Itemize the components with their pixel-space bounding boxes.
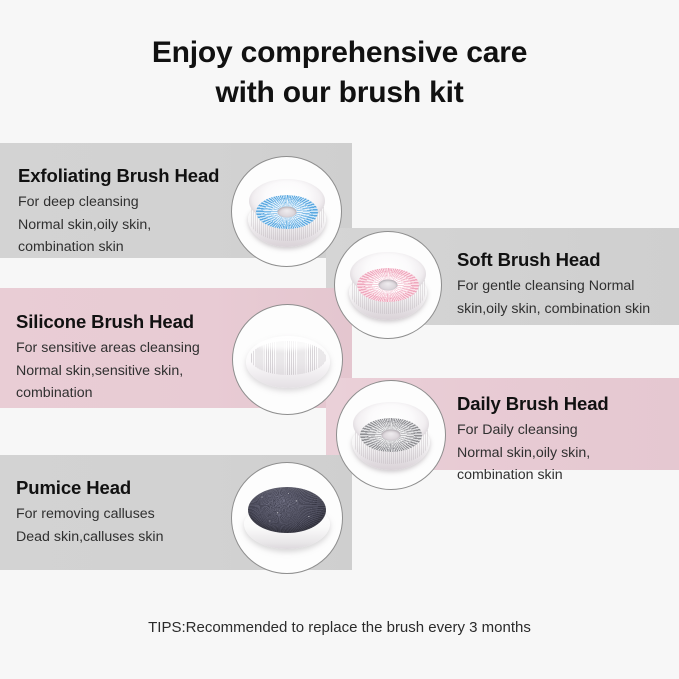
product-title-soft: Soft Brush Head [457, 248, 675, 271]
product-text-exfoliating: Exfoliating Brush Head For deep cleansin… [18, 164, 233, 258]
headline-line-1: Enjoy comprehensive care [152, 36, 527, 69]
product-desc-daily: For Daily cleansing Normal skin,oily ski… [457, 419, 667, 486]
desc-line: Normal skin,sensitive skin, [16, 360, 236, 382]
desc-line: For removing calluses [16, 503, 231, 525]
product-desc-exfoliating: For deep cleansing Normal skin,oily skin… [18, 191, 233, 258]
headline-line-2: with our brush kit [0, 73, 679, 113]
product-title-pumice: Pumice Head [16, 476, 231, 499]
product-title-exfoliating: Exfoliating Brush Head [18, 164, 233, 187]
product-text-daily: Daily Brush Head For Daily cleansing Nor… [457, 392, 667, 486]
page-title: Enjoy comprehensive care with our brush … [0, 33, 679, 113]
desc-line: For Daily cleansing [457, 419, 667, 441]
brush-illustration [352, 400, 430, 470]
desc-line: Normal skin,oily skin, [18, 214, 233, 236]
desc-line: combination skin [18, 236, 233, 258]
exfoliating-brush-head-icon [231, 156, 342, 267]
daily-brush-head-icon [336, 380, 446, 490]
desc-line: skin,oily skin, combination skin [457, 298, 675, 320]
product-title-daily: Daily Brush Head [457, 392, 667, 415]
desc-line: For deep cleansing [18, 191, 233, 213]
brush-illustration [248, 177, 326, 247]
pumice-illustration [244, 487, 330, 549]
infographic-canvas: Enjoy comprehensive care with our brush … [0, 0, 679, 679]
desc-line: For sensitive areas cleansing [16, 337, 236, 359]
desc-line: Dead skin,calluses skin [16, 526, 231, 548]
desc-line: combination skin [457, 464, 667, 486]
product-title-silicone: Silicone Brush Head [16, 310, 236, 333]
product-desc-soft: For gentle cleansing Normal skin,oily sk… [457, 275, 675, 320]
silicone-illustration [246, 336, 330, 388]
desc-line: combination [16, 382, 236, 404]
footer-tip: TIPS:Recommended to replace the brush ev… [0, 619, 679, 636]
silicone-brush-head-icon [232, 304, 343, 415]
product-text-silicone: Silicone Brush Head For sensitive areas … [16, 310, 236, 404]
desc-line: Normal skin,oily skin, [457, 442, 667, 464]
product-desc-silicone: For sensitive areas cleansing Normal ski… [16, 337, 236, 404]
product-text-pumice: Pumice Head For removing calluses Dead s… [16, 476, 231, 548]
product-text-soft: Soft Brush Head For gentle cleansing Nor… [457, 248, 675, 320]
pumice-head-icon [231, 462, 343, 574]
brush-illustration [349, 250, 427, 320]
desc-line: For gentle cleansing Normal [457, 275, 675, 297]
product-desc-pumice: For removing calluses Dead skin,calluses… [16, 503, 231, 548]
soft-brush-head-icon [334, 231, 442, 339]
